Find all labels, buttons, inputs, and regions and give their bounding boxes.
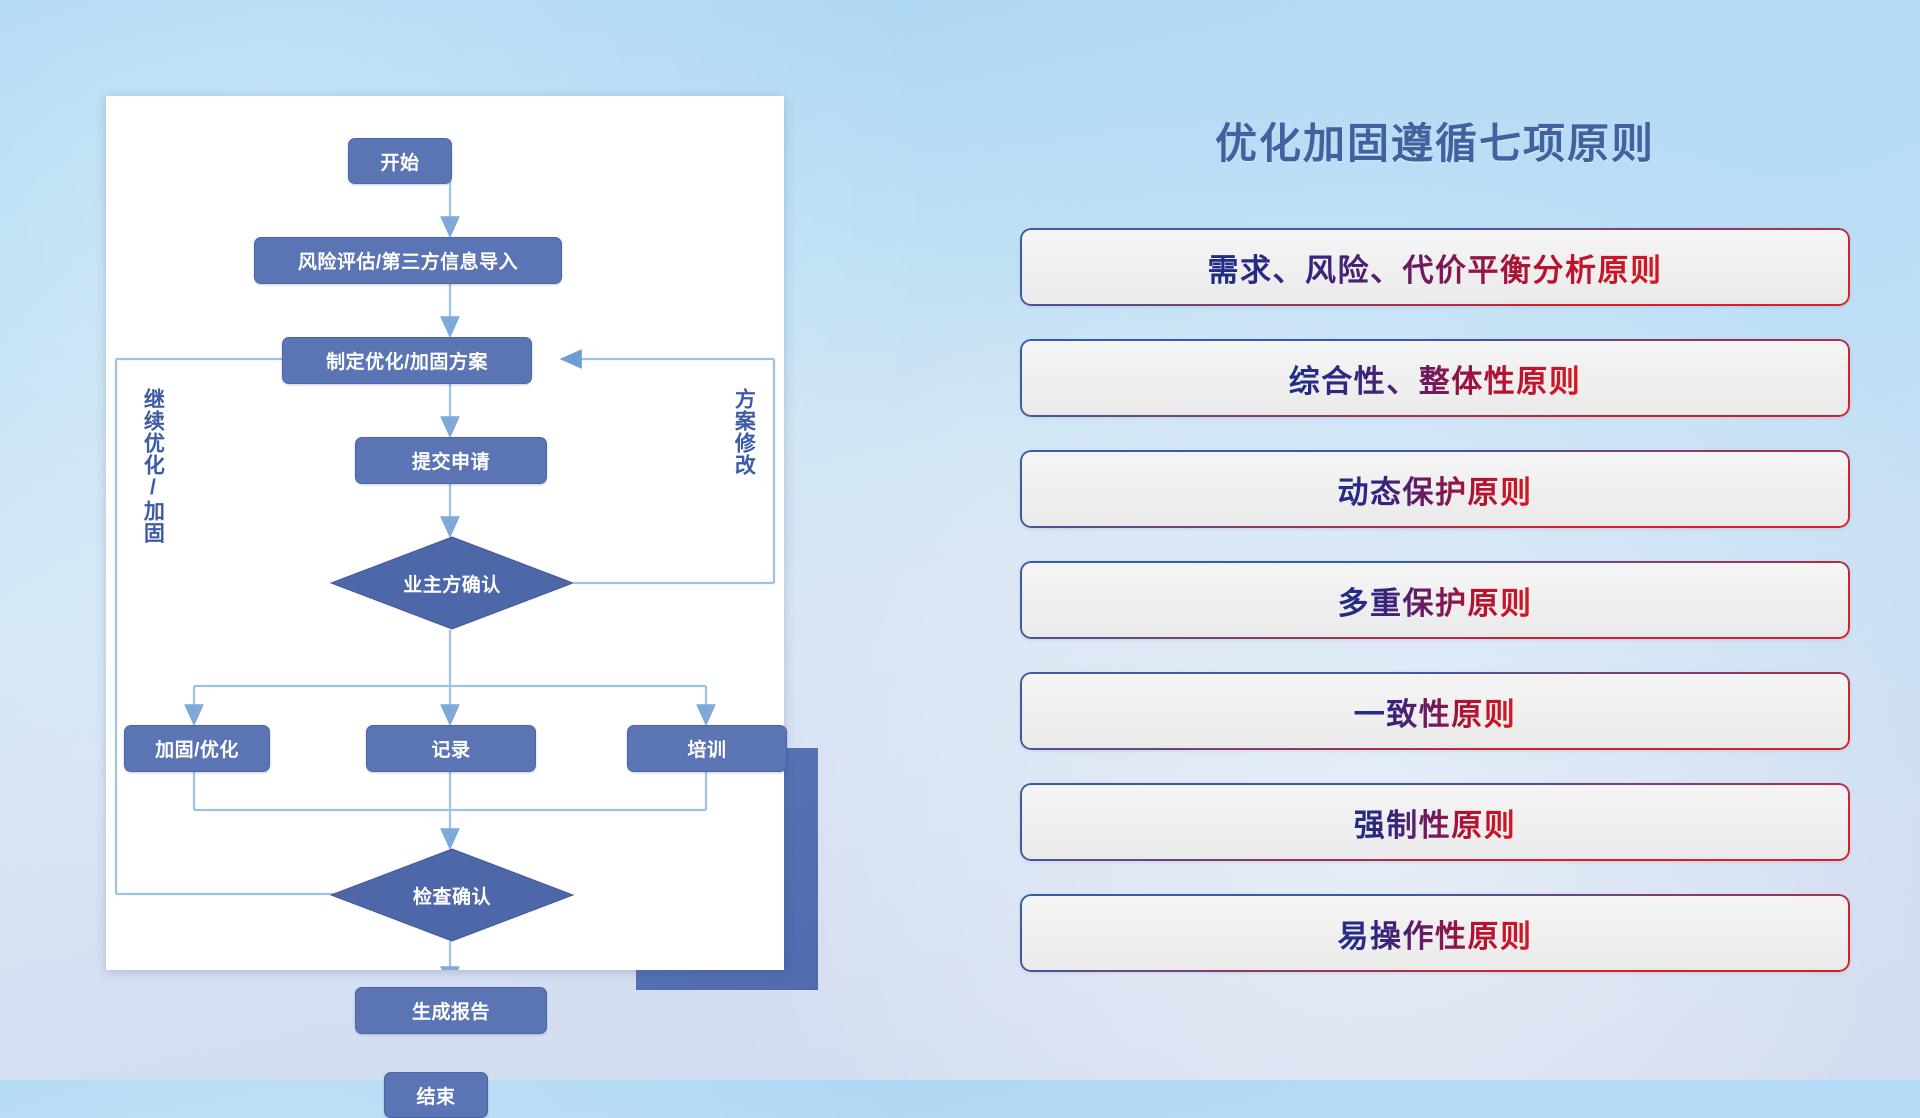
flow-node-label: 开始: [380, 148, 419, 175]
flow-node-generate-report[interactable]: 生成报告: [355, 987, 547, 1034]
panel-title: 优化加固遵循七项原则: [1020, 110, 1850, 171]
principle-card-2[interactable]: 综合性、整体性原则: [1020, 339, 1850, 417]
principle-card-6[interactable]: 强制性原则: [1020, 783, 1850, 861]
edge-label-plan-revision: 方案修改: [733, 388, 754, 476]
principle-label: 一致性原则: [1354, 689, 1517, 734]
flow-node-risk-assessment[interactable]: 风险评估/第三方信息导入: [254, 237, 562, 284]
diamond-shape: [330, 848, 574, 942]
flowchart-card: 开始 风险评估/第三方信息导入 制定优化/加固方案 提交申请 业主方确认 加固/…: [106, 96, 784, 970]
flow-node-label: 风险评估/第三方信息导入: [298, 247, 518, 274]
flow-node-end[interactable]: 结束: [384, 1072, 488, 1118]
flow-node-label: 培训: [687, 735, 726, 762]
principle-label: 多重保护原则: [1338, 578, 1533, 623]
flow-node-owner-confirm[interactable]: 业主方确认: [330, 536, 574, 630]
principle-card-7[interactable]: 易操作性原则: [1020, 894, 1850, 972]
flow-node-label: 记录: [431, 735, 470, 762]
flow-node-inspection-confirm[interactable]: 检查确认: [330, 848, 574, 942]
flow-node-label: 制定优化/加固方案: [326, 347, 488, 374]
principle-label: 需求、风险、代价平衡分析原则: [1208, 245, 1663, 290]
principles-list: 需求、风险、代价平衡分析原则 综合性、整体性原则 动态保护原则 多重保护原则 一…: [1020, 228, 1850, 1005]
principle-label: 易操作性原则: [1338, 911, 1533, 956]
principle-label: 强制性原则: [1354, 800, 1517, 845]
principle-label: 综合性、整体性原则: [1289, 356, 1582, 401]
flow-node-plan[interactable]: 制定优化/加固方案: [282, 337, 532, 384]
principle-label: 动态保护原则: [1338, 467, 1533, 512]
flow-node-submit-application[interactable]: 提交申请: [355, 437, 547, 484]
principle-card-3[interactable]: 动态保护原则: [1020, 450, 1850, 528]
flow-node-training[interactable]: 培训: [627, 725, 787, 772]
principle-card-1[interactable]: 需求、风险、代价平衡分析原则: [1020, 228, 1850, 306]
flow-node-label: 提交申请: [412, 447, 490, 474]
flow-node-label: 加固/优化: [155, 735, 239, 762]
flowchart-connectors: [106, 96, 784, 970]
principle-card-4[interactable]: 多重保护原则: [1020, 561, 1850, 639]
principles-panel: 优化加固遵循七项原则 需求、风险、代价平衡分析原则 综合性、整体性原则 动态保护…: [1020, 96, 1850, 996]
flow-node-record[interactable]: 记录: [366, 725, 536, 772]
flow-node-label: 生成报告: [412, 997, 490, 1024]
flow-node-start[interactable]: 开始: [348, 138, 452, 184]
diamond-shape: [330, 536, 574, 630]
flow-node-label: 结束: [416, 1082, 455, 1109]
flow-node-reinforce[interactable]: 加固/优化: [124, 725, 270, 772]
edge-label-continue-optimize: 继续优化/加固: [142, 388, 163, 544]
principle-card-5[interactable]: 一致性原则: [1020, 672, 1850, 750]
